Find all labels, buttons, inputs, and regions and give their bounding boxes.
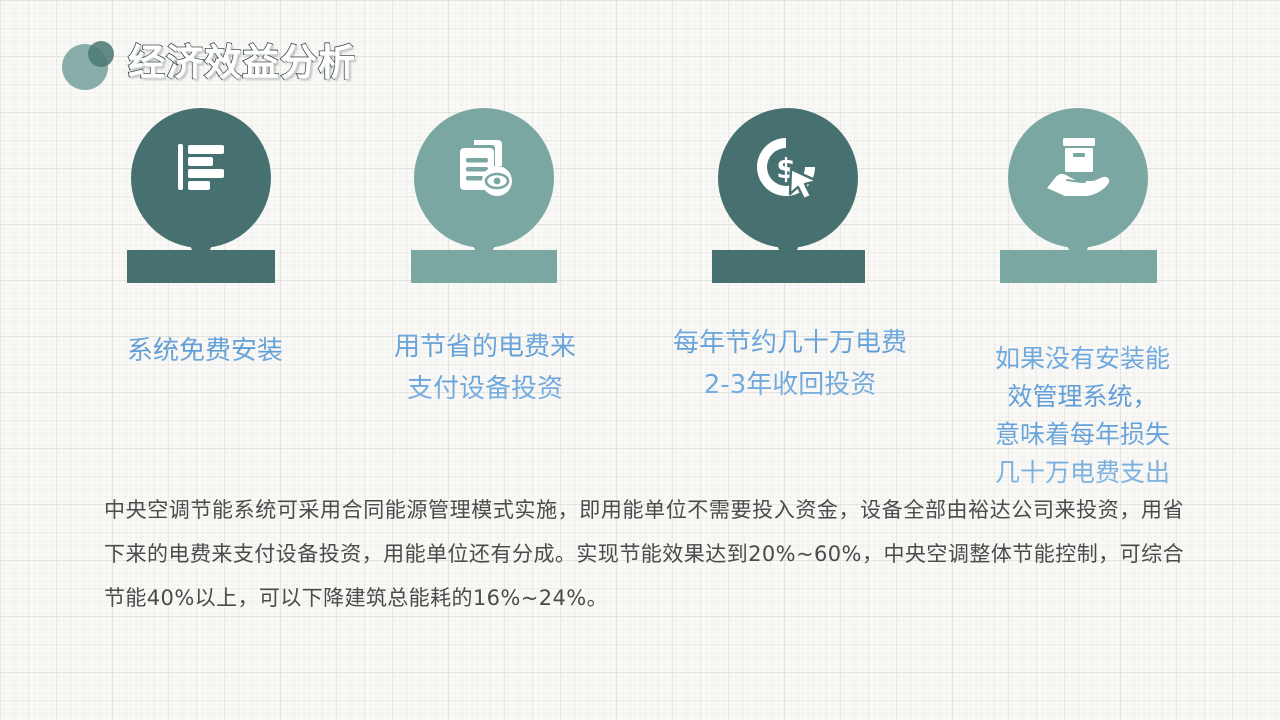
dollar-click-icon: $ [755, 136, 821, 200]
pin-shape-2 [414, 108, 554, 248]
body-paragraph: 中央空调节能系统可采用合同能源管理模式实施，即用能单位不需要投入资金，设备全部由… [104, 488, 1184, 620]
caption-4: 如果没有安装能 效管理系统， 意味着每年损失 几十万电费支出 [960, 340, 1205, 492]
body-paragraph-text: 中央空调节能系统可采用合同能源管理模式实施，即用能单位不需要投入资金，设备全部由… [104, 488, 1184, 620]
pedestal-bar-3 [712, 250, 865, 283]
caption-2: 用节省的电费来 支付设备投资 [340, 326, 630, 410]
caption-1: 系统免费安装 [60, 330, 350, 372]
bar-list-icon [170, 136, 232, 198]
column-1 [131, 108, 271, 266]
pedestal-bar-1 [127, 250, 275, 283]
slide-header: 经济效益分析 [0, 0, 1280, 112]
pin-marker-2 [414, 108, 554, 266]
column-3: $ [718, 108, 858, 266]
pin-marker-1 [131, 108, 271, 266]
pedestal-bar-4 [1000, 250, 1157, 283]
pin-shape-1 [131, 108, 271, 248]
column-4 [1008, 108, 1148, 266]
pin-shape-3: $ [718, 108, 858, 248]
pin-shape-4 [1008, 108, 1148, 248]
document-eye-icon [452, 136, 516, 198]
decorative-circle-small-icon [88, 41, 114, 67]
slide-canvas: 经济效益分析 [0, 0, 1280, 720]
column-2 [414, 108, 554, 266]
page-title: 经济效益分析 [128, 44, 356, 81]
pin-marker-3: $ [718, 108, 858, 266]
pin-marker-4 [1008, 108, 1148, 266]
caption-3: 每年节约几十万电费 2-3年收回投资 [640, 322, 940, 406]
pedestal-bar-2 [411, 250, 557, 283]
hand-box-icon [1043, 136, 1113, 200]
